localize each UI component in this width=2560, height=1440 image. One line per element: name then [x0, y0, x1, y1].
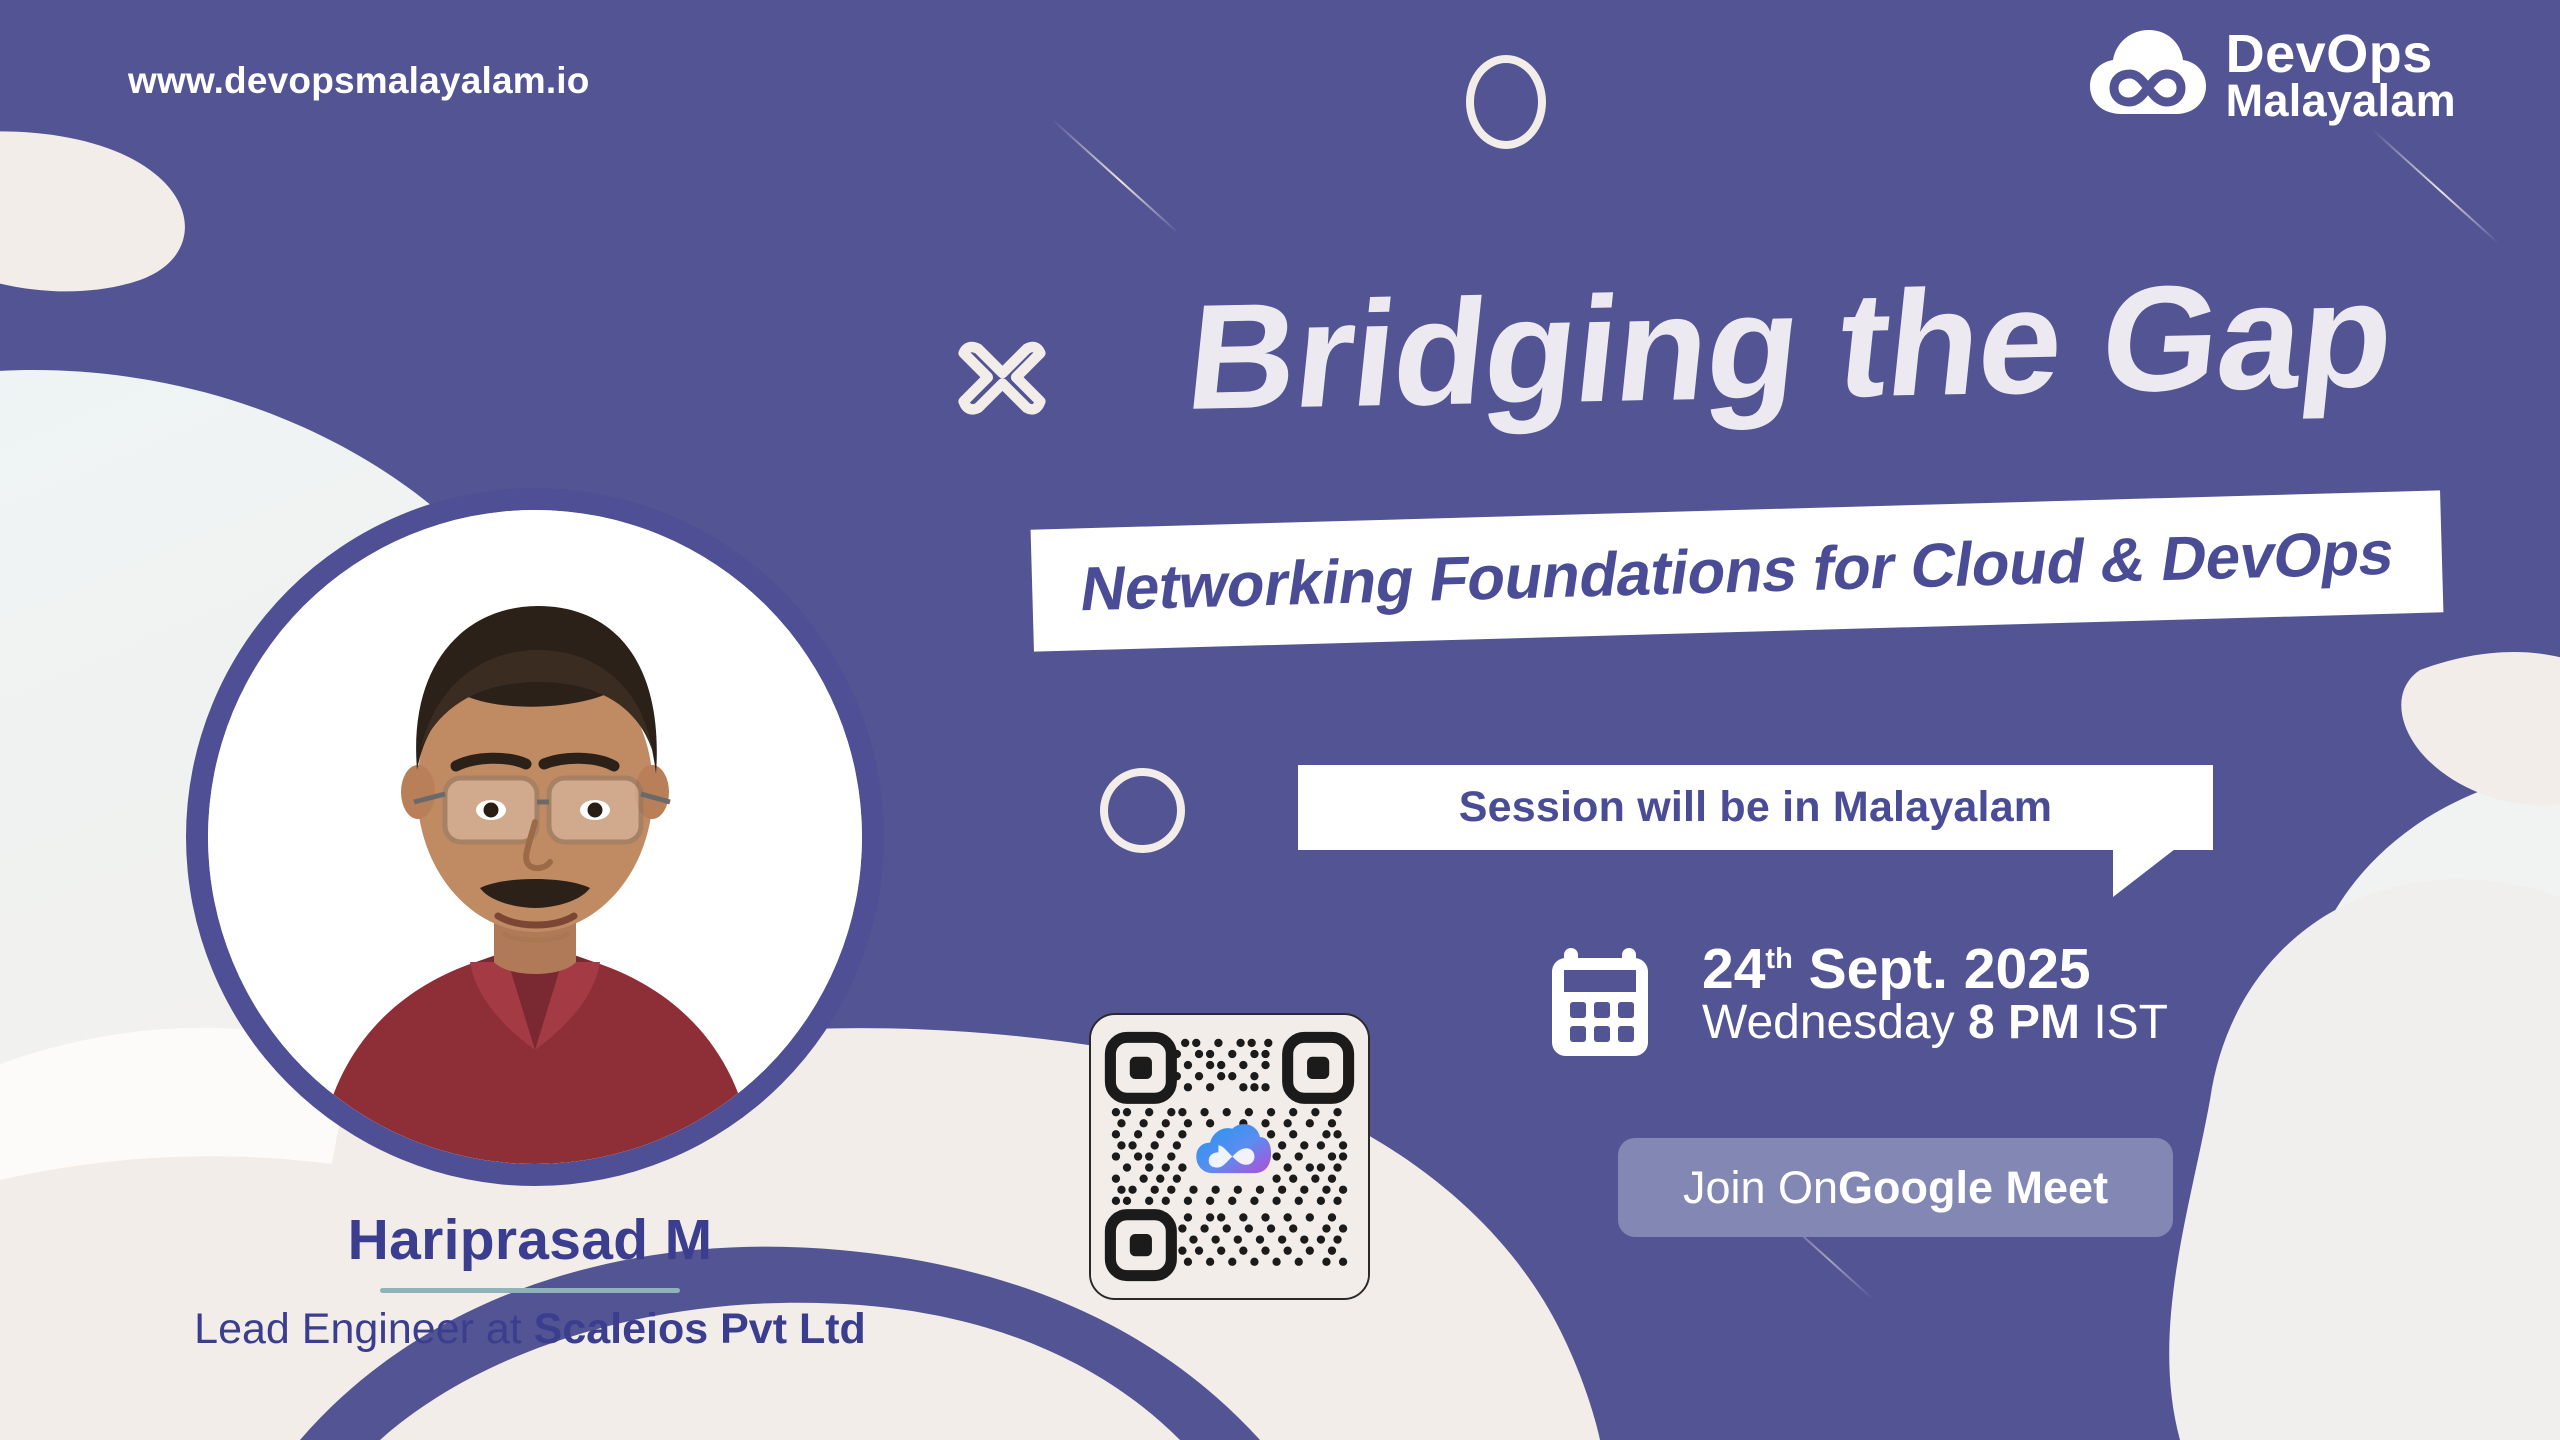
date-day: 24 — [1702, 937, 1765, 1001]
blob-bottom-right-cap — [1600, 1348, 2060, 1440]
avatar — [186, 488, 884, 1186]
blob-topleft-pill — [0, 131, 185, 291]
event-date: 24th Sept. 2025 — [1702, 940, 2168, 998]
speaker-role-prefix: Lead Engineer at — [194, 1305, 534, 1353]
brand-logo: DevOps Malayalam — [2088, 28, 2456, 124]
join-platform: Google Meet — [1838, 1162, 2108, 1214]
qr-code[interactable] — [1089, 1013, 1370, 1300]
brand-line-2: Malayalam — [2226, 80, 2456, 121]
speaker-name: Hariprasad M — [0, 1207, 1060, 1273]
blob-right-pill — [2401, 652, 2560, 806]
blob-right-lower — [2169, 879, 2560, 1440]
join-google-meet-button[interactable]: Join On Google Meet — [1618, 1138, 2173, 1237]
date-rest: Sept. 2025 — [1793, 937, 2091, 1001]
event-timezone: IST — [2080, 996, 2168, 1049]
join-prefix: Join On — [1683, 1162, 1838, 1214]
speaker-company: Scaleios Pvt Ltd — [534, 1305, 866, 1353]
circle-outline-icon — [1100, 768, 1185, 853]
calendar-icon — [1548, 930, 1676, 1058]
event-date-block: 24th Sept. 2025 Wednesday 8 PM IST — [1548, 930, 2168, 1058]
date-ordinal: th — [1765, 943, 1792, 975]
bubble-tail — [2113, 849, 2175, 897]
speaker-role: Lead Engineer at Scaleios Pvt Ltd — [0, 1305, 1060, 1354]
cross-outline-icon — [950, 330, 1055, 435]
subtitle-text: Networking Foundations for Cloud & DevOp… — [1076, 517, 2399, 625]
event-poster: www.devopsmalayalam.io DevOps Malayalam … — [0, 0, 2560, 1440]
website-url[interactable]: www.devopsmalayalam.io — [128, 60, 590, 102]
speaker-portrait — [208, 510, 862, 1164]
qr-code-graphic — [1091, 1015, 1368, 1298]
language-note-bubble: Session will be in Malayalam — [1298, 765, 2213, 850]
portrait-illustration — [208, 510, 862, 1164]
cloud-infinity-icon — [2088, 28, 2208, 124]
page-title: Bridging the Gap — [1181, 263, 2398, 429]
circle-outline-icon — [1466, 55, 1546, 149]
divider — [380, 1288, 680, 1293]
event-weekday: Wednesday — [1702, 996, 1968, 1049]
event-hour: 8 PM — [1968, 996, 2080, 1049]
event-time: Wednesday 8 PM IST — [1702, 999, 2168, 1048]
language-note-text: Session will be in Malayalam — [1459, 783, 2053, 832]
brand-line-1: DevOps — [2226, 30, 2456, 80]
